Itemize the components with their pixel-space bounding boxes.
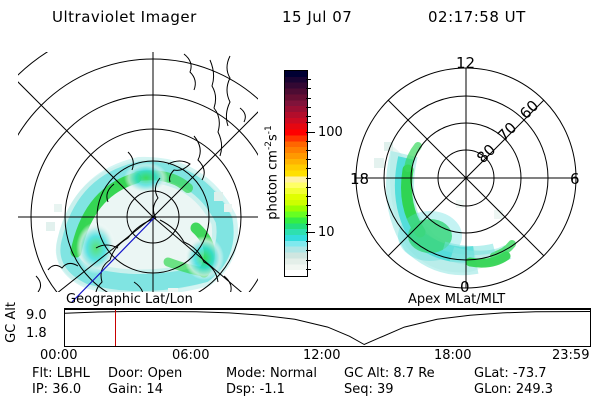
mlt-label-6: 6	[570, 170, 580, 188]
time-tick-2359: 23:59	[552, 348, 589, 363]
colorbar-tick-label-10: 10	[318, 226, 335, 239]
colorbar-minor-tick	[306, 98, 311, 99]
colorbar-minor-tick	[306, 269, 311, 270]
lat-label-60: 60	[516, 97, 542, 123]
colorbar-minor-tick	[306, 205, 311, 206]
status-flt-value: LBHL	[57, 366, 90, 381]
status-gain: Gain: 14	[108, 382, 226, 398]
colorbar-minor-tick	[306, 159, 311, 160]
time-tick-1800: 18:00	[434, 348, 471, 363]
colorbar-minor-tick	[306, 150, 311, 151]
lat-label-70: 70	[494, 119, 520, 145]
lat-label-80: 80	[473, 141, 499, 167]
status-door-value: Open	[148, 366, 183, 381]
colorbar-major-tick	[306, 232, 315, 233]
colorbar-minor-tick	[306, 122, 311, 123]
status-mode: Mode: Normal	[226, 366, 344, 382]
status-glon: GLon: 249.3	[474, 382, 594, 398]
time-tick-1200: 12:00	[303, 348, 340, 363]
status-dsp: Dsp: -1.1	[226, 382, 344, 398]
status-ip-label: IP:	[32, 382, 48, 397]
status-gain-value: 14	[146, 382, 163, 397]
status-gcalt-value: 8.7 Re	[393, 366, 434, 381]
colorbar-minor-tick	[306, 168, 311, 169]
mlt-label-12: 12	[456, 54, 475, 72]
status-glon-label: GLon:	[474, 382, 512, 397]
time-tick-0000: 00:00	[40, 348, 77, 363]
status-gain-label: Gain:	[108, 382, 142, 397]
apex-plot-caption: Apex MLat/MLT	[408, 292, 505, 307]
status-seq-label: Seq:	[344, 382, 373, 397]
status-dsp-value: -1.1	[260, 382, 285, 397]
status-ip-value: 36.0	[52, 382, 81, 397]
status-seq-value: 39	[377, 382, 394, 397]
status-glon-value: 249.3	[516, 382, 553, 397]
colorbar-minor-tick	[306, 79, 311, 80]
status-mode-value: Normal	[270, 366, 317, 381]
colorbar-minor-tick	[306, 116, 311, 117]
status-dsp-label: Dsp:	[226, 382, 255, 397]
colorbar-title-sup2: -1	[264, 125, 274, 134]
status-gcalt-label: GC Alt:	[344, 366, 389, 381]
colorbar-axis: 10010	[306, 70, 340, 277]
colorbar-axis-title: photon cm-2s-1	[264, 70, 280, 275]
colorbar-title-sup1: -2	[264, 141, 274, 150]
colorbar-gradient	[284, 70, 308, 277]
status-glat-value: -73.7	[513, 366, 547, 381]
mlt-label-18: 18	[350, 170, 369, 188]
colorbar-minor-tick	[306, 250, 311, 251]
status-flt-label: Flt:	[32, 366, 53, 381]
gc-alt-axis-label: GC Alt	[4, 302, 20, 343]
colorbar-minor-tick	[306, 88, 311, 89]
time-tick-0600: 06:00	[172, 348, 209, 363]
colorbar-title-mid: s	[265, 134, 280, 141]
page-title: Ultraviolet Imager	[52, 8, 197, 26]
apex-mlt-polar-plot[interactable]: 12 18 6 0 60 70 80	[344, 50, 588, 294]
status-ip: IP: 36.0	[0, 382, 108, 398]
observation-date: 15 Jul 07	[282, 8, 352, 26]
colorbar-major-tick	[306, 132, 315, 133]
colorbar-minor-tick	[306, 260, 311, 261]
colorbar-minor-tick	[306, 215, 311, 216]
colorbar-minor-tick	[306, 178, 311, 179]
status-mode-label: Mode:	[226, 366, 266, 381]
status-row-2: IP: 36.0 Gain: 14 Dsp: -1.1 Seq: 39 GLon…	[0, 382, 600, 398]
colorbar-minor-tick	[306, 187, 311, 188]
geographic-polar-plot[interactable]	[18, 52, 258, 292]
colorbar-minor-tick	[306, 241, 311, 242]
status-flt: Flt: LBHL	[0, 366, 108, 382]
colorbar-minor-tick	[306, 196, 311, 197]
colorbar-title-main: photon cm	[265, 150, 280, 220]
status-door-label: Door:	[108, 366, 143, 381]
status-glat-label: GLat:	[474, 366, 509, 381]
colorbar-minor-tick	[306, 107, 311, 108]
apex-dial-graticule	[356, 68, 576, 288]
colorbar-minor-tick	[306, 224, 311, 225]
status-row-1: Flt: LBHL Door: Open Mode: Normal GC Alt…	[0, 366, 600, 382]
colorbar: photon cm-2s-1 10010	[266, 62, 342, 290]
gc-alt-trace	[65, 310, 590, 346]
geographic-plot-canvas	[18, 52, 258, 292]
colorbar-minor-tick	[306, 141, 311, 142]
status-gcalt: GC Alt: 8.7 Re	[344, 366, 474, 382]
colorbar-tick-label-100: 100	[318, 126, 343, 139]
status-seq: Seq: 39	[344, 382, 474, 398]
geographic-plot-caption: Geographic Lat/Lon	[66, 292, 193, 307]
status-glat: GLat: -73.7	[474, 366, 594, 382]
gc-alt-orbit-chart[interactable]	[64, 308, 591, 347]
status-footer: Flt: LBHL Door: Open Mode: Normal GC Alt…	[0, 366, 600, 398]
observation-time: 02:17:58 UT	[428, 8, 526, 26]
current-time-cursor[interactable]	[115, 310, 116, 346]
apex-plot-canvas: 12 18 6 0 60 70 80	[344, 50, 588, 294]
status-door: Door: Open	[108, 366, 226, 382]
